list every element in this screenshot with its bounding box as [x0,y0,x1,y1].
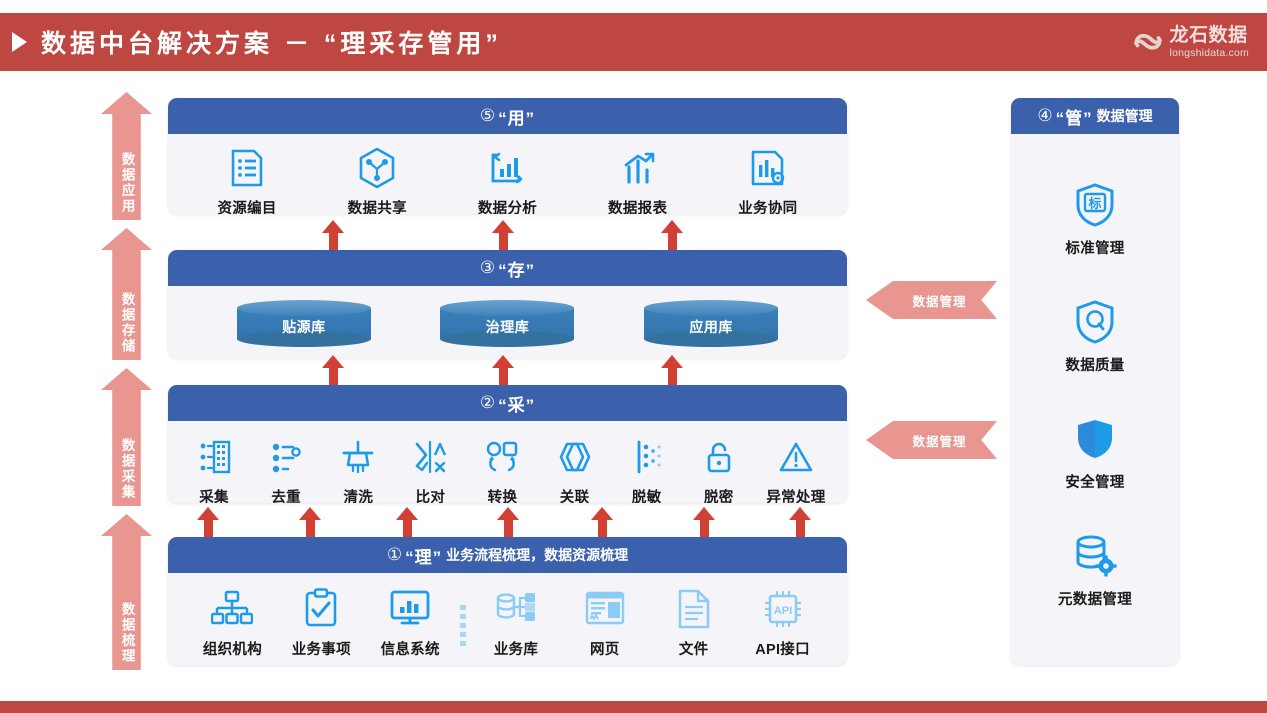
item-org-structure[interactable]: 组织机构 [193,587,271,659]
layer-header-use: ⑤ “用” [168,98,847,134]
manage-arrow-1: 数据管理 [866,421,997,459]
manage-item-quality[interactable]: 数据质量 [1065,299,1124,375]
stage-arrow-label: 数据采集 [119,438,133,506]
brand-logo: 龙石数据 longshidata.com [1133,26,1249,59]
unlock-icon [703,435,735,479]
item-label: 采集 [199,486,229,503]
database-nodes-icon [495,587,537,631]
logo-name: 龙石数据 [1170,26,1249,45]
manage-item-label: 数据质量 [1065,354,1124,375]
layer-card-sortout[interactable]: ① “理” 业务流程梳理，数据资源梳理 组织机构 [168,537,847,665]
item-unlock[interactable]: 脱密 [688,435,750,503]
manage-panel-keyword: “管” [1056,104,1093,129]
layer-number-sortout: ① [387,545,402,565]
item-label: 数据报表 [608,197,667,214]
item-label: 转换 [488,486,518,503]
manage-panel-number: ④ [1037,106,1052,126]
manage-arrow-label: 数据管理 [896,291,966,310]
stage-arrow-0: 数据应用 [101,92,152,220]
item-label: API接口 [755,638,810,659]
monitor-chart-icon [389,587,431,631]
item-label: 组织机构 [203,638,262,659]
collect-icon [197,435,231,479]
item-clean[interactable]: 清洗 [327,435,389,503]
svg-text:标: 标 [1087,196,1101,211]
manage-panel-header: ④ “管” 数据管理 [1011,98,1179,134]
flow-arrow-sortout-to-collect [497,507,519,537]
top-banner: 数据中台解决方案 － “理采存管用” 龙石数据 longshidata.com [0,13,1267,71]
item-api-interface[interactable]: API API接口 [744,587,822,659]
item-label: 业务协同 [738,197,797,214]
layer-keyword-collect: “采” [498,391,535,416]
report-trend-icon [618,146,658,190]
database-gear-icon [1073,533,1117,579]
item-link[interactable]: 关联 [544,435,606,503]
logo-domain: longshidata.com [1170,48,1249,59]
page-title: 数据中台解决方案 － “理采存管用” [41,24,502,60]
layer-body-collect: 采集 去重 [168,421,847,503]
file-doc-icon [676,587,712,631]
item-label: 比对 [416,486,446,503]
item-label: 数据共享 [348,197,407,214]
item-label: 脱敏 [632,486,662,503]
org-tree-icon [211,587,253,631]
item-label: 资源编目 [217,197,276,214]
item-desensitize[interactable]: 脱敏 [616,435,678,503]
layer-keyword-use: “用” [498,104,535,129]
flow-arrow-collect-to-store [322,355,344,385]
section-divider-dots [460,605,466,649]
flow-arrow-sortout-to-collect [591,507,613,537]
shield-standard-icon: 标 [1074,182,1116,228]
webpage-icon [584,587,626,631]
manage-item-label: 元数据管理 [1058,588,1132,609]
layer-card-collect[interactable]: ② “采” [168,385,847,503]
logo-swirl-icon [1133,29,1163,55]
layer-card-use[interactable]: ⑤ “用” 资源编目 [168,98,847,214]
item-label: 去重 [271,486,301,503]
flow-arrow-sortout-to-collect [197,507,219,537]
item-transform[interactable]: 转换 [471,435,533,503]
shield-quality-icon [1074,299,1116,345]
item-label: 清洗 [343,486,373,503]
layer-body-use: 资源编目 数据共享 [168,134,847,214]
flow-arrow-store-to-use [492,220,514,250]
warning-triangle-icon [778,435,814,479]
flow-arrow-sortout-to-collect [396,507,418,537]
item-file[interactable]: 文件 [655,587,733,659]
layer-keyword-store: “存” [498,256,535,281]
desensitize-icon [630,435,664,479]
item-business-matter[interactable]: 业务事项 [282,587,360,659]
manage-panel-subtitle: 数据管理 [1097,106,1153,126]
item-business-database[interactable]: 业务库 [477,587,555,659]
stage-arrow-label: 数据存储 [119,292,133,360]
layer-number-collect: ② [480,393,495,413]
flow-arrow-sortout-to-collect [299,507,321,537]
bottom-accent-bar [0,701,1267,713]
item-data-report[interactable]: 数据报表 [599,146,677,214]
dedupe-icon [269,435,303,479]
item-resource-catalog[interactable]: 资源编目 [208,146,286,214]
item-label: 数据分析 [478,197,537,214]
transform-icon [484,435,520,479]
flow-arrow-store-to-use [322,220,344,250]
item-data-sharing[interactable]: 数据共享 [338,146,416,214]
layer-card-store[interactable]: ③ “存” 贴源库 治理库 应用库 [168,250,847,358]
stage-arrow-label: 数据应用 [119,152,133,220]
api-chip-icon: API [762,587,804,631]
manage-item-label: 标准管理 [1065,237,1124,258]
stage-arrow-2: 数据采集 [101,368,152,506]
item-label: 网页 [590,638,620,659]
layer-keyword-sortout: “理” [405,543,442,568]
layer-body-sortout: 组织机构 业务事项 [168,573,847,665]
stage-arrow-label: 数据梳理 [119,602,133,670]
stage-arrow-3: 数据梳理 [101,514,152,670]
flow-arrow-collect-to-store [661,355,683,385]
database-cylinder[interactable]: 贴源库 [237,300,371,347]
cylinder-label: 应用库 [644,300,778,347]
manage-item-security[interactable]: 安全管理 [1065,416,1124,492]
layer-header-store: ③ “存” [168,250,847,286]
slide-root: 数据中台解决方案 － “理采存管用” 龙石数据 longshidata.com … [0,0,1267,713]
share-hexagon-icon [357,146,397,190]
manage-item-metadata[interactable]: 元数据管理 [1058,533,1132,609]
item-label: 脱密 [704,486,734,503]
item-business-collaboration[interactable]: 业务协同 [729,146,807,214]
flow-arrow-store-to-use [661,220,683,250]
layer-number-store: ③ [480,258,495,278]
database-cylinder[interactable]: 应用库 [644,300,778,347]
item-webpage[interactable]: 网页 [566,587,644,659]
layer-subtitle-sortout: 业务流程梳理，数据资源梳理 [446,545,628,565]
cylinder-label: 治理库 [440,300,574,347]
database-cylinder[interactable]: 治理库 [440,300,574,347]
cylinder-label: 贴源库 [237,300,371,347]
item-label: 信息系统 [381,638,440,659]
clipboard-check-icon [304,587,338,631]
layer-body-store: 贴源库 治理库 应用库 [168,286,847,358]
flow-arrow-sortout-to-collect [693,507,715,537]
flow-arrow-sortout-to-collect [789,507,811,537]
item-label: 异常处理 [766,486,825,503]
compare-icon [413,435,447,479]
flow-arrow-collect-to-store [492,355,514,385]
item-information-system[interactable]: 信息系统 [371,587,449,659]
document-list-icon [229,146,265,190]
item-label: 业务库 [494,638,538,659]
manage-panel[interactable]: ④ “管” 数据管理 标 标准管理 [1011,98,1179,665]
shield-security-icon [1074,416,1116,462]
layer-header-collect: ② “采” [168,385,847,421]
collaboration-board-icon [749,146,787,190]
item-exception-handling[interactable]: 异常处理 [760,435,832,503]
item-dedupe[interactable]: 去重 [255,435,317,503]
manage-item-standard[interactable]: 标 标准管理 [1065,182,1124,258]
layer-number-use: ⑤ [480,106,495,126]
item-label: 业务事项 [292,638,351,659]
clean-broom-icon [341,435,375,479]
item-label: 关联 [560,486,590,503]
link-icon [555,435,595,479]
item-data-analysis[interactable]: 数据分析 [468,146,546,214]
item-collect[interactable]: 采集 [183,435,245,503]
stage-arrow-1: 数据存储 [101,228,152,360]
manage-arrow-label: 数据管理 [896,431,966,450]
item-label: 文件 [679,638,709,659]
manage-arrow-0: 数据管理 [866,281,997,319]
play-triangle-icon [12,32,27,52]
svg-text:API: API [773,605,791,617]
item-compare[interactable]: 比对 [399,435,461,503]
manage-item-list: 标 标准管理 数据质量 [1011,134,1179,609]
manage-item-label: 安全管理 [1065,471,1124,492]
layer-header-sortout: ① “理” 业务流程梳理，数据资源梳理 [168,537,847,573]
analysis-chart-icon [487,146,527,190]
